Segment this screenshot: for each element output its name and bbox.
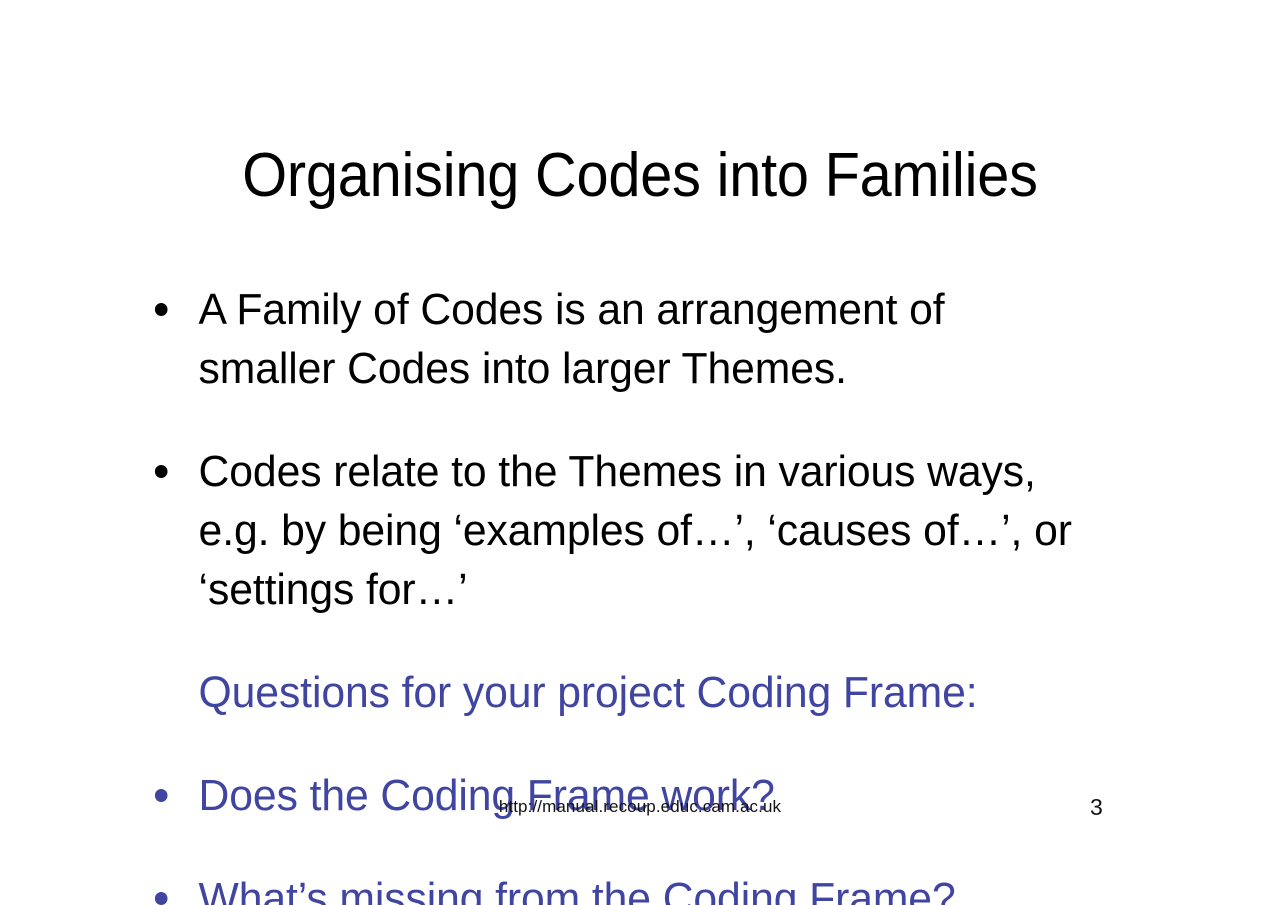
page-number: 3 xyxy=(1090,793,1130,821)
bullet-whats-missing: What’s missing from the Coding Frame? xyxy=(152,869,1074,905)
bullet-text: What’s missing from the Coding Frame? xyxy=(199,874,956,905)
bullet-dot-icon xyxy=(155,303,168,316)
footer-url: http://manual.recoup.educ.cam.ac.uk xyxy=(0,796,1280,818)
page-title: Organising Codes into Families xyxy=(45,143,1235,208)
bullet-dot-icon xyxy=(155,465,168,478)
lead-in-questions: Questions for your project Coding Frame: xyxy=(152,663,1074,722)
bullet-text: A Family of Codes is an arrangement of s… xyxy=(199,285,945,393)
bullet-codes-relate: Codes relate to the Themes in various wa… xyxy=(152,442,1074,619)
lead-in-text: Questions for your project Coding Frame: xyxy=(199,668,978,717)
slide: Organising Codes into Families A Family … xyxy=(0,0,1280,905)
bullet-family-of-codes: A Family of Codes is an arrangement of s… xyxy=(152,280,1074,398)
bullet-dot-icon xyxy=(155,892,168,905)
bullet-text: Codes relate to the Themes in various wa… xyxy=(199,447,1072,614)
